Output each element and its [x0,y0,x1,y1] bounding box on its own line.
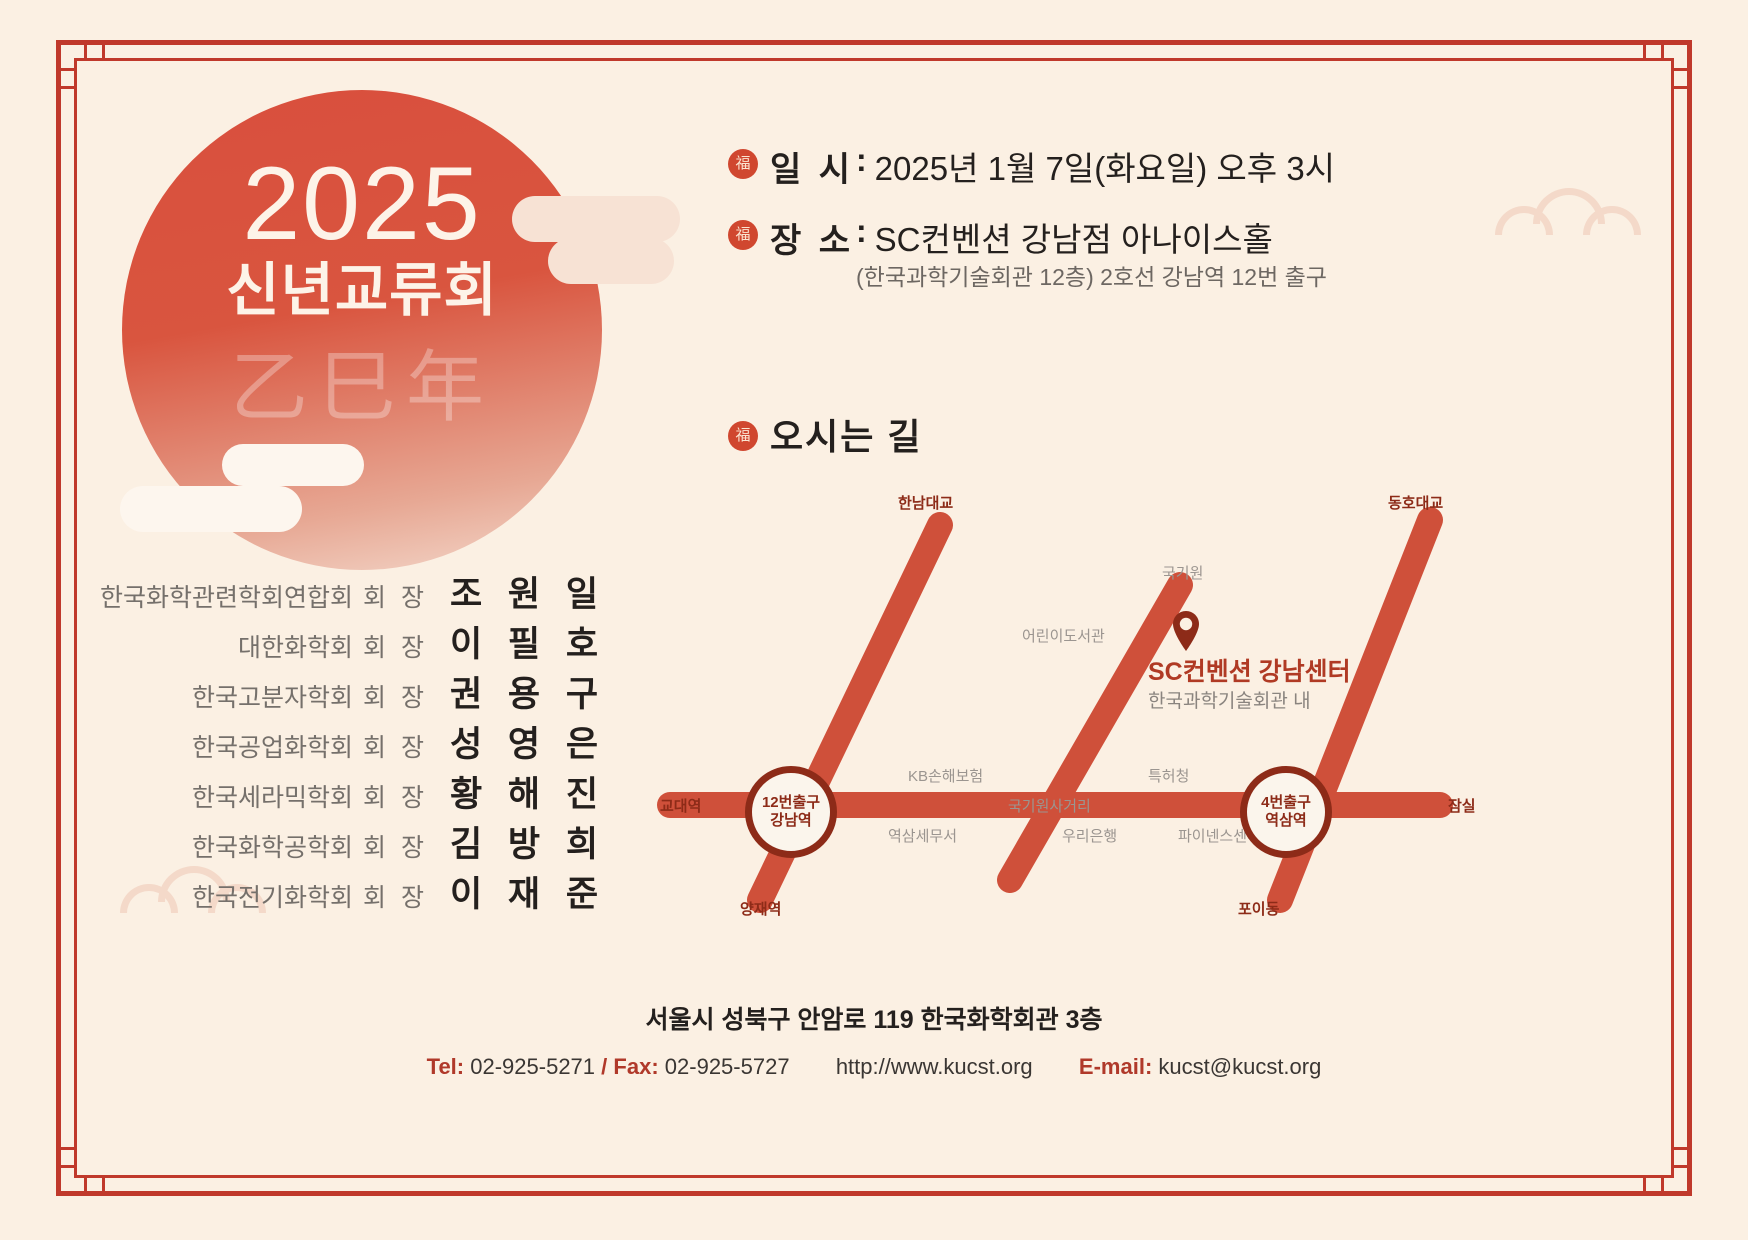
event-place-row: 福 장 소 : SC컨벤션 강남점 아나이스홀 [728,213,1335,262]
map-poi-yeoksam-tax-office: 역삼세무서 [888,825,957,846]
list-item: 한국세라믹학회 회 장 황 해 진 [120,766,580,816]
fortune-badge-icon: 福 [728,149,758,179]
president-name: 권 용 구 [450,666,580,717]
presidents-list: 한국화학관련학회연합회 회 장 조 원 일 대한화학회 회 장 이 필 호 한국… [120,566,580,916]
fortune-badge-icon: 福 [728,220,758,250]
map-label-hannam-bridge: 한남대교 [898,492,953,513]
president-name: 황 해 진 [450,766,580,817]
place-colon: : [856,213,867,250]
president-org: 한국화학관련학회연합회 [100,578,353,614]
hero-subtitle-text: 신년교류회 [122,262,602,320]
map-label-yangjae-station: 양재역 [740,898,781,919]
president-org: 한국공업화학회 [192,728,353,764]
cloud-shape-3 [222,444,364,486]
footer-fax-value: 02-925-5727 [665,1054,790,1079]
president-name: 성 영 은 [450,716,580,767]
president-title: 회 장 [363,828,428,864]
list-item: 한국화학공학회 회 장 김 방 희 [120,816,580,866]
event-place-label: 장 소 [770,213,854,262]
map-poi-patent-office: 특허청 [1148,765,1189,786]
station-name-label: 역삼역 [1265,812,1306,830]
footer-contact-line: Tel: 02-925-5271 / Fax: 02-925-5727 http… [0,1054,1748,1080]
list-item: 한국공업화학회 회 장 성 영 은 [120,716,580,766]
hero-hanja-text: 乙巳年 [122,348,602,426]
hero-year-text: 2025 [122,152,602,256]
footer-tel-label: Tel: [427,1054,464,1079]
list-item: 대한화학회 회 장 이 필 호 [120,616,580,666]
corner-ornament-top-right [1614,40,1692,118]
corner-ornament-top-left [56,40,134,118]
map-label-jamsil: 잠실 [1448,795,1476,816]
president-name: 김 방 희 [450,816,580,867]
list-item: 한국화학관련학회연합회 회 장 조 원 일 [120,566,580,616]
map-poi-gukgiwon: 국기원 [1162,562,1203,583]
map-poi-woori-bank: 우리은행 [1062,825,1117,846]
route-section-title: 오시는 길 [770,408,922,460]
map-label-poi-dong: 포이동 [1238,898,1279,919]
footer-block: 서울시 성북구 안암로 119 한국화학회관 3층 Tel: 02-925-52… [0,1000,1748,1080]
president-title: 회 장 [363,728,428,764]
president-org: 한국화학공학회 [192,828,353,864]
event-place-subtext: (한국과학기술회관 12층) 2호선 강남역 12번 출구 [856,258,1327,292]
venue-name-label: SC컨벤션 강남센터 [1148,652,1351,688]
map-roads-svg [640,470,1640,950]
event-date-label: 일 시 [770,142,854,191]
event-date-value: 2025년 1월 7일(화요일) 오후 3시 [875,142,1335,190]
date-colon: : [856,142,867,179]
footer-tel-value: 02-925-5271 [470,1054,595,1079]
map-label-gyodae-station: 교대역 [660,795,701,816]
fortune-badge-icon: 福 [728,421,758,451]
president-org: 한국전기화학회 [192,878,353,914]
map-label-dongho-bridge: 동호대교 [1388,492,1443,513]
station-name-label: 강남역 [770,812,811,830]
list-item: 한국고분자학회 회 장 권 용 구 [120,666,580,716]
venue-sub-label: 한국과학기술회관 내 [1148,686,1311,713]
footer-email-value[interactable]: kucst@kucst.org [1158,1054,1321,1079]
president-org: 한국세라믹학회 [192,778,353,814]
footer-address: 서울시 성북구 안암로 119 한국화학회관 3층 [0,1000,1748,1036]
footer-email-label: E-mail: [1079,1054,1152,1079]
president-title: 회 장 [363,678,428,714]
map-poi-kb-insurance: KB손해보험 [908,765,983,786]
president-title: 회 장 [363,778,428,814]
map-poi-childrens-library: 어린이도서관 [1022,625,1105,646]
corner-ornament-bottom-left [56,1118,134,1196]
station-exit-label: 12번출구 [762,794,820,812]
cloud-shape-4 [120,486,302,532]
event-date-row: 福 일 시 : 2025년 1월 7일(화요일) 오후 3시 [728,142,1335,191]
station-marker-gangnam[interactable]: 12번출구 강남역 [745,766,837,858]
footer-separator: / [601,1054,607,1079]
station-exit-label: 4번출구 [1261,794,1311,812]
corner-ornament-bottom-right [1614,1118,1692,1196]
president-name: 조 원 일 [450,566,580,617]
footer-fax-label: Fax: [613,1054,658,1079]
route-map: 한남대교 동호대교 교대역 양재역 잠실 포이동 국기원 어린이도서관 KB손해… [640,470,1640,950]
map-poi-gukgiwon-intersection: 국기원사거리 [1008,795,1091,816]
president-name: 이 재 준 [450,866,580,917]
route-section-header: 福 오시는 길 [728,408,922,460]
president-title: 회 장 [363,878,428,914]
president-name: 이 필 호 [450,616,580,667]
list-item: 한국전기화학회 회 장 이 재 준 [120,866,580,916]
footer-website-link[interactable]: http://www.kucst.org [836,1054,1033,1079]
president-org: 대한화학회 [238,628,353,664]
station-marker-yeoksam[interactable]: 4번출구 역삼역 [1240,766,1332,858]
arc-decor-top-right [1495,180,1625,240]
map-pin-icon [1171,610,1201,652]
event-place-value: SC컨벤션 강남점 아나이스홀 [875,213,1273,261]
president-title: 회 장 [363,628,428,664]
poster-root: 2025 신년교류회 乙巳年 福 일 시 : 2025년 1월 7일(화요일) … [0,0,1748,1240]
president-title: 회 장 [363,578,428,614]
president-org: 한국고분자학회 [192,678,353,714]
